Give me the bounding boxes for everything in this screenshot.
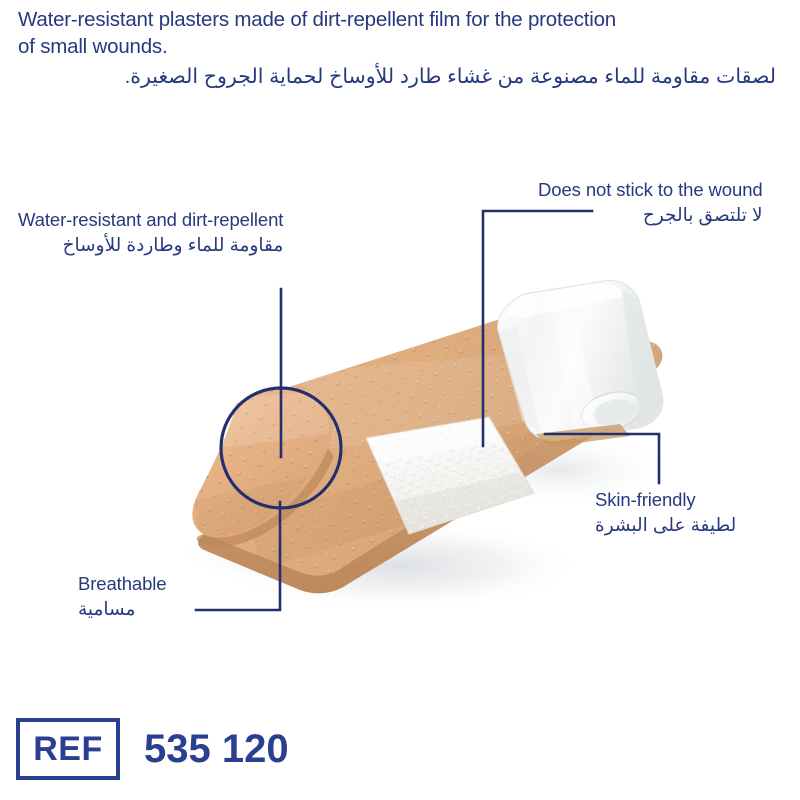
callout-water-resistant-en: Water-resistant and dirt-repellent	[18, 208, 283, 232]
callout-water-resistant: Water-resistant and dirt-repellent مقاوم…	[18, 208, 283, 258]
callout-skin-friendly-ar: لطيفة على البشرة	[595, 512, 736, 538]
callout-water-resistant-ar: مقاومة للماء وطاردة للأوساخ	[18, 232, 283, 258]
callout-does-not-stick: Does not stick to the wound لا تلتصق بال…	[538, 178, 763, 228]
ref-label-box: REF	[16, 718, 120, 780]
callout-skin-friendly: Skin-friendly لطيفة على البشرة	[595, 488, 736, 538]
ref-label: REF	[33, 730, 103, 769]
infographic-page: Water-resistant plasters made of dirt-re…	[0, 0, 800, 800]
callout-skin-friendly-en: Skin-friendly	[595, 488, 736, 512]
callout-does-not-stick-ar: لا تلتصق بالجرح	[538, 202, 763, 228]
ref-badge: REF 535 120	[16, 718, 289, 780]
callout-breathable: Breathable مسامية	[78, 572, 166, 622]
product-illustration	[0, 0, 800, 800]
callout-breathable-en: Breathable	[78, 572, 166, 596]
callout-does-not-stick-en: Does not stick to the wound	[538, 178, 763, 202]
ref-number: 535 120	[144, 727, 289, 772]
callout-breathable-ar: مسامية	[78, 596, 166, 622]
